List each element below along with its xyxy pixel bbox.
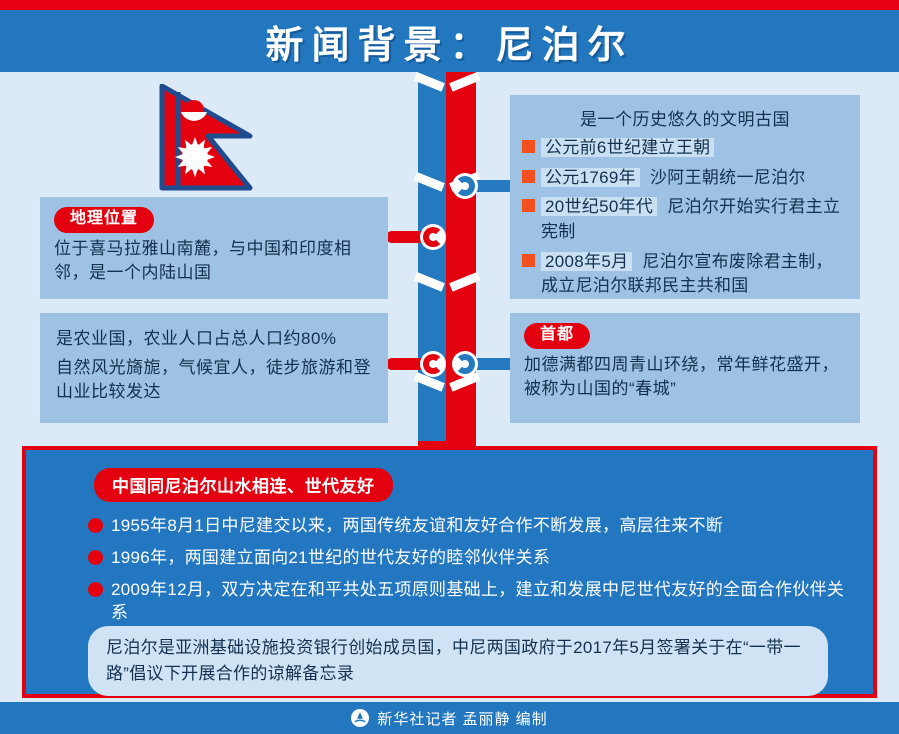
history-item-text: 沙阿王朝统一尼泊尔	[650, 168, 806, 187]
history-item-date: 公元1769年	[541, 168, 640, 187]
capital-card: 首都 加德满都四周青山环绕，常年鲜花盛开，被称为山国的“春城”	[510, 313, 860, 423]
timeline-spine	[418, 72, 476, 447]
square-bullet-icon	[522, 140, 535, 153]
geography-badge: 地理位置	[54, 207, 154, 233]
relations-note: 尼泊尔是亚洲基础设施投资银行创始成员国，中尼两国政府于2017年5月签署关于在“…	[88, 626, 828, 696]
xinhua-logo-icon	[351, 709, 369, 727]
history-item: 公元1769年 沙阿王朝统一尼泊尔	[520, 166, 850, 191]
dot-bullet-icon	[88, 518, 103, 533]
agriculture-line-2: 自然风光旖旎，气候宜人，徒步旅游和登山业比较发达	[56, 356, 374, 405]
page-title: 新闻背景：尼泊尔	[0, 10, 899, 72]
connector-node-history	[452, 173, 478, 199]
history-item-date: 2008年5月	[541, 252, 632, 271]
nepal-flag-icon	[158, 84, 266, 200]
connector-node-agriculture	[420, 351, 446, 377]
history-intro: 是一个历史悠久的文明古国	[520, 105, 850, 130]
top-red-strip	[0, 0, 899, 10]
dot-bullet-icon	[88, 550, 103, 565]
relations-item: 1996年，两国建立面向21世纪的世代友好的睦邻伙伴关系	[88, 546, 858, 570]
relations-item-text: 1955年8月1日中尼建交以来，两国传统友谊和友好合作不断发展，高层往来不断	[111, 514, 723, 538]
capital-body: 加德满都四周青山环绕，常年鲜花盛开，被称为山国的“春城”	[524, 353, 848, 402]
square-bullet-icon	[522, 170, 535, 183]
history-card: 是一个历史悠久的文明古国 公元前6世纪建立王朝 公元1769年 沙阿王朝统一尼泊…	[510, 95, 860, 299]
history-item: 2008年5月 尼泊尔宣布废除君主制，成立尼泊尔联邦民主共和国	[520, 250, 850, 299]
geography-card: 地理位置 位于喜马拉雅山南麓，与中国和印度相邻，是一个内陆山国	[40, 197, 388, 299]
history-item: 20世纪50年代 尼泊尔开始实行君主立宪制	[520, 195, 850, 244]
relations-panel: 中国同尼泊尔山水相连、世代友好 1955年8月1日中尼建交以来，两国传统友谊和友…	[22, 446, 877, 698]
square-bullet-icon	[522, 254, 535, 267]
history-item-date: 公元前6世纪建立王朝	[541, 138, 714, 157]
dot-bullet-icon	[88, 582, 103, 597]
square-bullet-icon	[522, 199, 535, 212]
capital-badge: 首都	[524, 323, 590, 349]
agriculture-card: 是农业国，农业人口占总人口约80% 自然风光旖旎，气候宜人，徒步旅游和登山业比较…	[40, 313, 388, 423]
history-item: 公元前6世纪建立王朝	[520, 136, 850, 161]
connector-node-geography	[420, 224, 446, 250]
spine-chevron	[418, 72, 476, 94]
relations-badge: 中国同尼泊尔山水相连、世代友好	[94, 468, 393, 502]
connector-node-capital	[452, 351, 478, 377]
spine-chevron	[418, 272, 476, 294]
agriculture-line-1: 是农业国，农业人口占总人口约80%	[56, 327, 374, 352]
relations-item-text: 2009年12月，双方决定在和平共处五项原则基础上，建立和发展中尼世代友好的全面…	[111, 578, 858, 626]
infographic-page: 新闻背景：尼泊尔	[0, 0, 899, 734]
footer-credit: 新华社记者 孟丽静 编制	[377, 708, 547, 729]
relations-item: 2009年12月，双方决定在和平共处五项原则基础上，建立和发展中尼世代友好的全面…	[88, 578, 858, 626]
relations-item: 1955年8月1日中尼建交以来，两国传统友谊和友好合作不断发展，高层往来不断	[88, 514, 858, 538]
history-item-date: 20世纪50年代	[541, 197, 657, 216]
footer-bar: 新华社记者 孟丽静 编制	[0, 702, 899, 734]
relations-item-text: 1996年，两国建立面向21世纪的世代友好的睦邻伙伴关系	[111, 546, 550, 570]
geography-body: 位于喜马拉雅山南麓，与中国和印度相邻，是一个内陆山国	[54, 237, 374, 286]
